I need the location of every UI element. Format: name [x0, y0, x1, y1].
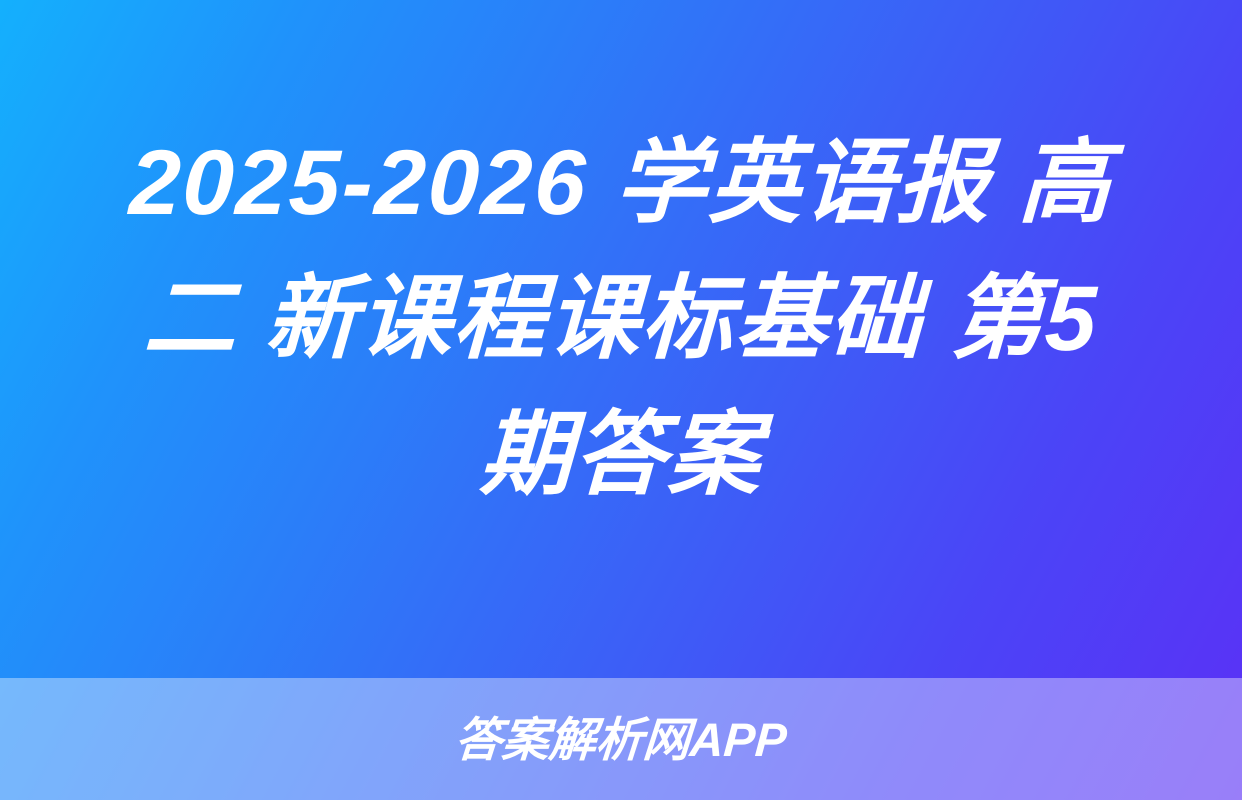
headline-block: 2025-2026 学英语报 高 二 新课程课标基础 第5 期答案: [0, 0, 1242, 678]
watermark-band: 答案解析网APP: [0, 678, 1242, 800]
watermark-app-label: 答案解析网APP: [454, 716, 789, 763]
title-line-2: 二 新课程课标基础 第5: [38, 251, 1205, 387]
title-line-3: 期答案: [38, 387, 1205, 523]
poster-canvas: 2025-2026 学英语报 高 二 新课程课标基础 第5 期答案 答案解析网A…: [0, 0, 1242, 800]
title-line-1: 2025-2026 学英语报 高: [38, 115, 1205, 251]
